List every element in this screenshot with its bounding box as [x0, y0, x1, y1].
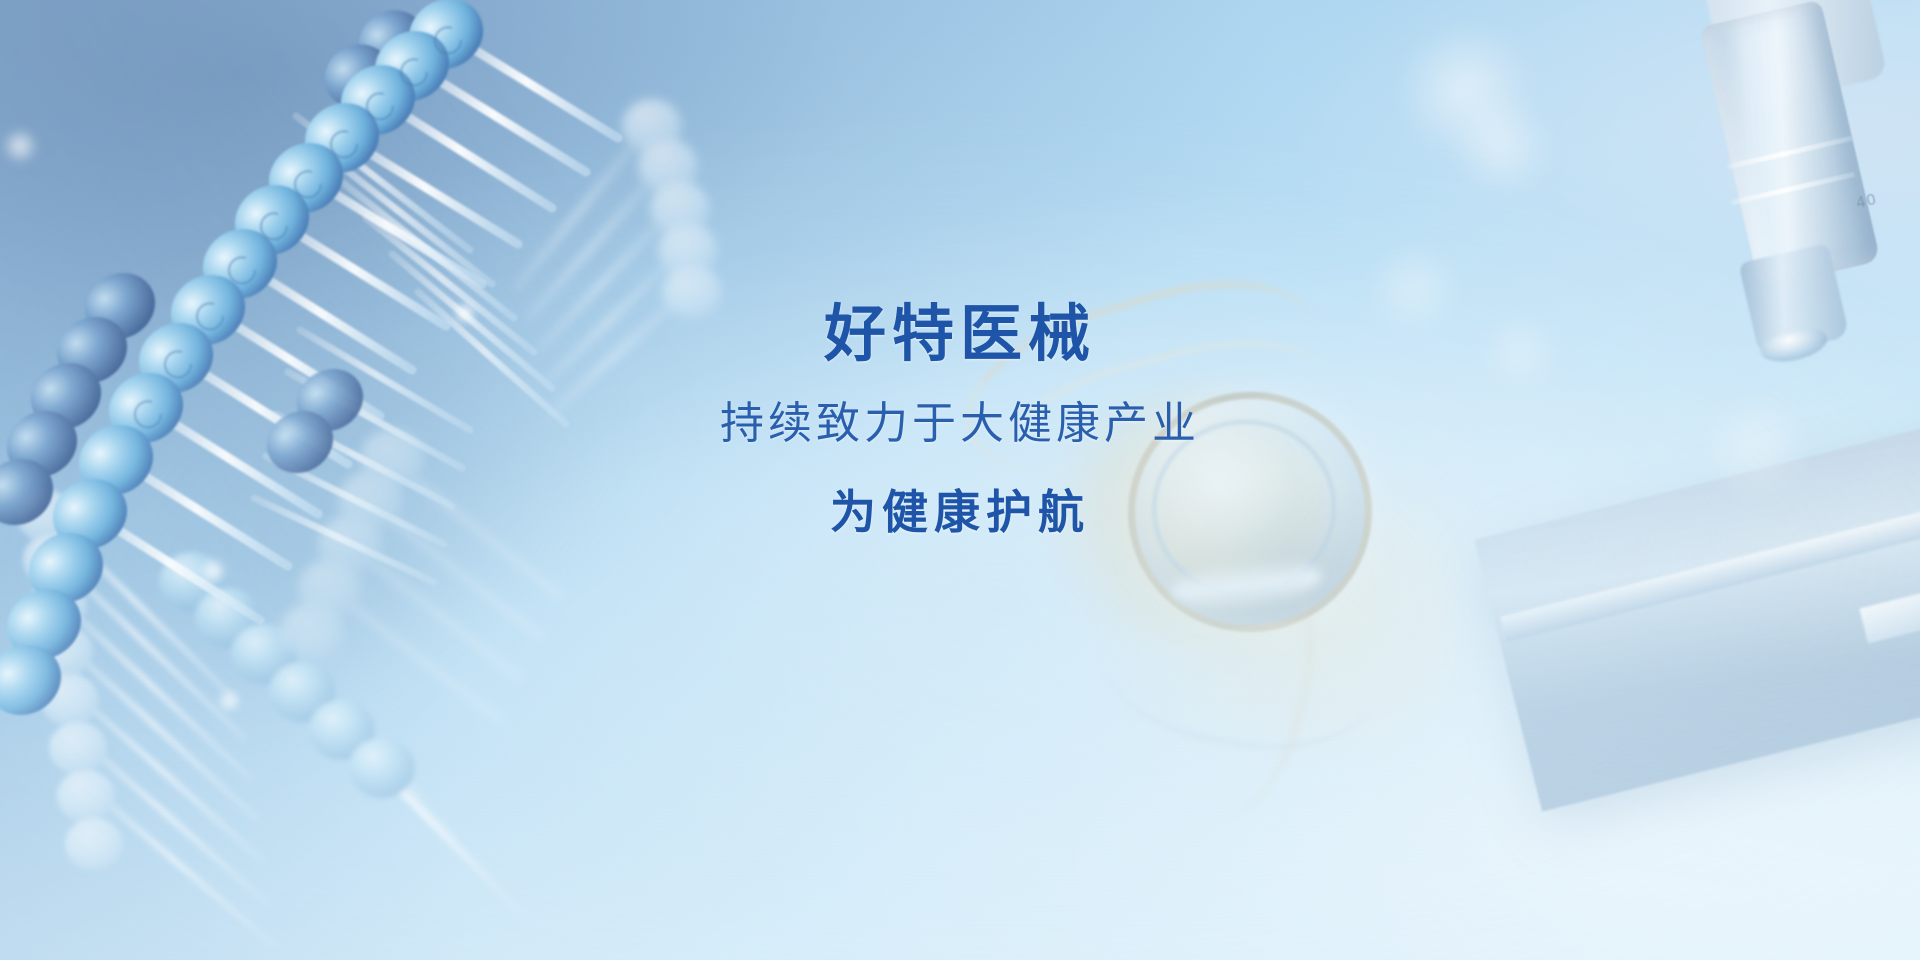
- hero-banner: 40: [0, 0, 1920, 960]
- hero-subtitle: 持续致力于大健康产业: [0, 400, 1920, 448]
- page-title: 好特医械: [0, 300, 1920, 368]
- hero-copy: 好特医械 持续致力于大健康产业 为健康护航: [0, 300, 1920, 537]
- hero-tagline: 为健康护航: [0, 487, 1920, 538]
